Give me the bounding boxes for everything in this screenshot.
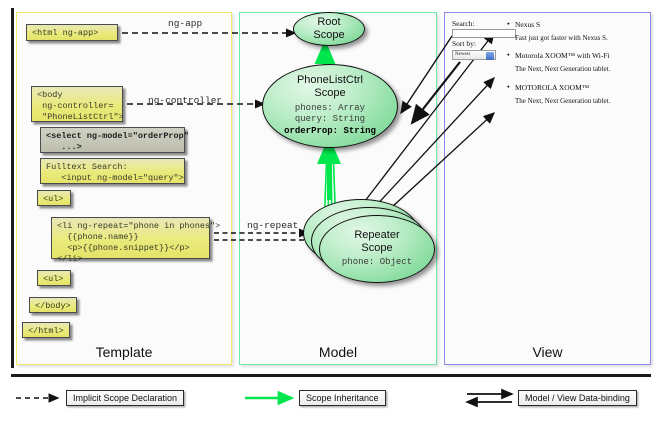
phone-name: MOTOROLA XOOM™: [507, 83, 645, 92]
chevron-updown-icon: [486, 52, 494, 60]
phone-list: Nexus S Fast just got faster with Nexus …: [507, 20, 645, 114]
left-vertical-rule: [11, 8, 14, 368]
scope-phonelistctrl-props: phones: Array query: String: [295, 103, 365, 125]
scope-root-title-1: Root: [317, 16, 340, 28]
scope-phonelistctrl-title-1: PhoneListCtrl: [297, 74, 363, 86]
legend-item-model-view-data-binding: Model / View Data-binding: [518, 390, 637, 406]
phone-snippet: Fast just got faster with Nexus S.: [507, 34, 645, 42]
scope-phonelistctrl-title-2: Scope: [314, 87, 345, 99]
view-rendered-app: Search: Sort by: Newest Nexus S Fast jus…: [452, 20, 644, 350]
panel-template-label: Template: [17, 344, 231, 360]
edge-label-ng-controller: ng-controller: [148, 95, 222, 106]
edge-label-ng-app: ng-app: [168, 18, 202, 29]
edge-label-ng-repeat: ng-repeat: [247, 220, 298, 231]
legend-item-implicit-scope-declaration: Implicit Scope Declaration: [66, 390, 184, 406]
bottom-horizontal-rule: [11, 374, 651, 377]
code-node-search-input-tag: Fulltext Search: <input ng-model="query"…: [40, 158, 185, 184]
sort-select[interactable]: Newest: [452, 50, 496, 60]
list-item[interactable]: Motorola XOOM™ with Wi-Fi The Next, Next…: [507, 51, 645, 73]
code-node-select-tag: <select ng-model="orderProp" ...>: [40, 127, 185, 153]
code-node-html-open: <html ng-app>: [26, 24, 118, 41]
code-node-li-ng-repeat: <li ng-repeat="phone in phones"> {{phone…: [51, 217, 210, 259]
phone-name: Motorola XOOM™ with Wi-Fi: [507, 51, 645, 60]
scope-phonelistctrl-props-bold: orderProp: String: [284, 126, 376, 136]
angularjs-scope-diagram: Template Model View <html ng-app> <body …: [0, 0, 661, 425]
scope-repeater: Repeater Scope phone: Object: [319, 215, 435, 283]
list-item[interactable]: MOTOROLA XOOM™ The Next, Next Generation…: [507, 83, 645, 105]
scope-repeater-title-2: Scope: [361, 242, 392, 254]
scope-repeater-title-1: Repeater: [354, 229, 399, 241]
phone-snippet: The Next, Next Generation tablet.: [507, 65, 645, 73]
phone-snippet: The Next, Next Generation tablet.: [507, 97, 645, 105]
scope-repeater-props: phone: Object: [342, 257, 412, 269]
phone-name: Nexus S: [507, 20, 645, 29]
code-node-body-close: </body>: [29, 297, 77, 313]
scope-root-title-2: Scope: [313, 29, 344, 41]
code-node-html-close: </html>: [22, 322, 70, 338]
code-node-ul-close: <ul>: [37, 270, 71, 286]
list-item[interactable]: Nexus S Fast just got faster with Nexus …: [507, 20, 645, 42]
panel-model-label: Model: [240, 344, 436, 360]
legend-item-scope-inheritance: Scope Inheritance: [299, 390, 386, 406]
sort-select-value: Newest: [453, 52, 470, 57]
code-node-ul-open: <ul>: [37, 190, 71, 206]
scope-root: Root Scope: [293, 12, 365, 46]
scope-phonelistctrl: PhoneListCtrl Scope phones: Array query:…: [262, 64, 398, 148]
code-node-body-open: <body ng-controller= "PhoneListCtrl">: [31, 86, 123, 122]
